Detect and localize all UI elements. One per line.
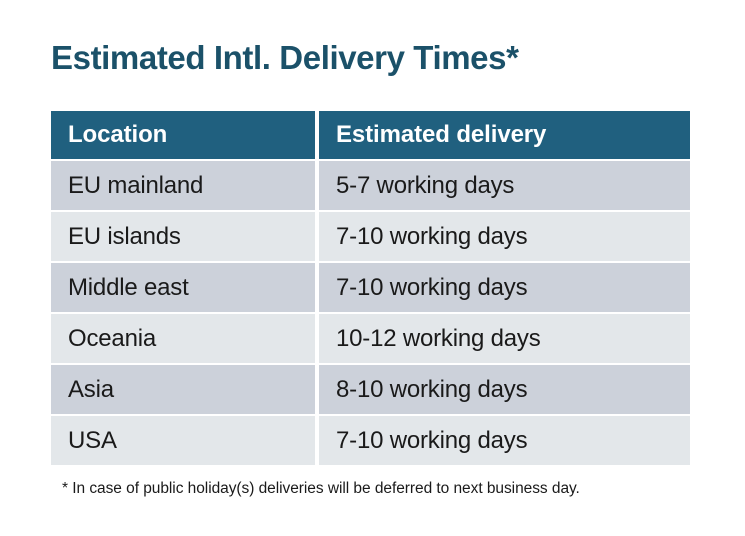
cell-delivery: 7-10 working days [319,414,690,465]
cell-location: EU islands [51,210,319,261]
cell-delivery: 7-10 working days [319,210,690,261]
column-header-estimated-delivery: Estimated delivery [319,111,690,159]
table-row: Oceania 10-12 working days [51,312,690,363]
delivery-times-table: Location Estimated delivery EU mainland … [51,111,690,465]
delivery-times-page: Estimated Intl. Delivery Times* Location… [0,0,745,536]
table-row: Asia 8-10 working days [51,363,690,414]
cell-location: Asia [51,363,319,414]
table-row: Middle east 7-10 working days [51,261,690,312]
cell-delivery: 5-7 working days [319,159,690,210]
cell-location: EU mainland [51,159,319,210]
cell-delivery: 7-10 working days [319,261,690,312]
cell-location: USA [51,414,319,465]
footnote: * In case of public holiday(s) deliverie… [62,479,580,499]
table-body: EU mainland 5-7 working days EU islands … [51,159,690,465]
cell-location: Oceania [51,312,319,363]
cell-location: Middle east [51,261,319,312]
column-header-location: Location [51,111,319,159]
cell-delivery: 10-12 working days [319,312,690,363]
table-header-row: Location Estimated delivery [51,111,690,159]
cell-delivery: 8-10 working days [319,363,690,414]
table-row: USA 7-10 working days [51,414,690,465]
table-row: EU islands 7-10 working days [51,210,690,261]
table-row: EU mainland 5-7 working days [51,159,690,210]
page-title: Estimated Intl. Delivery Times* [51,36,519,80]
